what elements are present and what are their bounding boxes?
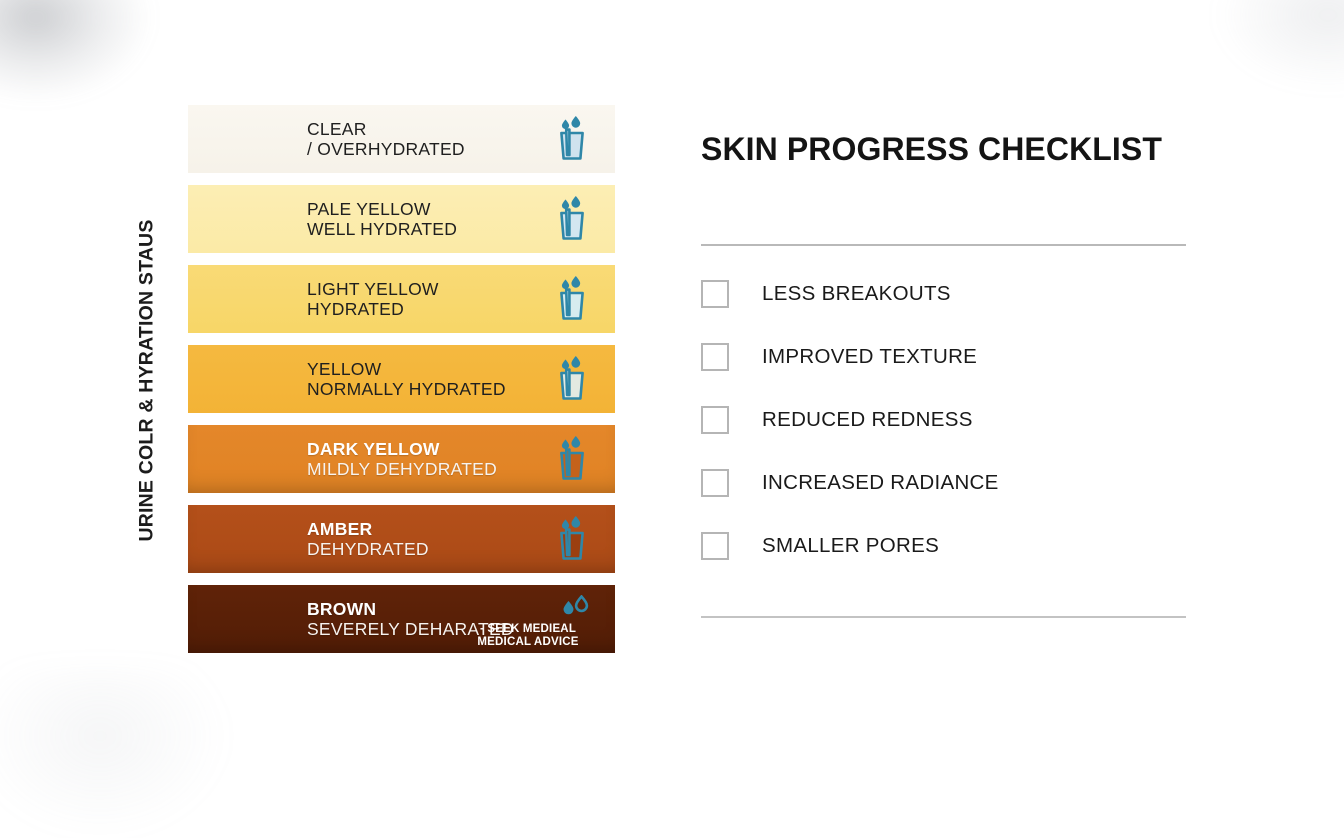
hydration-row-status: NORMALLY HYDRATED (307, 379, 605, 399)
hydration-row: PALE YELLOWWELL HYDRATED (188, 185, 615, 253)
hydration-row-texts: CLEAR/ OVERHYDRATED (307, 119, 605, 160)
checklist-divider-bottom (701, 616, 1186, 618)
hydration-row-color-name: AMBER (307, 519, 605, 539)
checklist-item-label: LESS BREAKOUTS (762, 282, 951, 306)
hydration-row-color-name: CLEAR (307, 119, 605, 139)
hydration-row: BROWNSEVERELY DEHARATED- SEEK MEDIEAL ME… (188, 585, 615, 653)
hydration-row-color-name: BROWN (307, 599, 605, 619)
hydration-row-texts: LIGHT YELLOWHYDRATED (307, 279, 605, 320)
skin-progress-checklist: SKIN PROGRESS CHECKLIST LESS BREAKOUTSIM… (660, 0, 1344, 768)
hydration-row: AMBERDEHYDRATED (188, 505, 615, 573)
checklist-item[interactable]: INCREASED RADIANCE (701, 467, 1221, 499)
hydration-row-status: HYDRATED (307, 299, 605, 319)
hydration-row-color-name: LIGHT YELLOW (307, 279, 605, 299)
checkbox-icon[interactable] (701, 280, 729, 308)
checklist-divider-top (701, 244, 1186, 246)
checkbox-icon[interactable] (701, 406, 729, 434)
checklist-item-label: IMPROVED TEXTURE (762, 345, 977, 369)
checklist-item-label: SMALLER PORES (762, 534, 939, 558)
checklist-item-label: REDUCED REDNESS (762, 408, 973, 432)
hydration-row-status: SEVERELY DEHARATED (307, 619, 605, 639)
checkbox-icon[interactable] (701, 343, 729, 371)
hydration-scale-rows: CLEAR/ OVERHYDRATEDPALE YELLOWWELL HYDRA… (188, 105, 615, 653)
hydration-row: LIGHT YELLOWHYDRATED (188, 265, 615, 333)
chart-axis-label: URINE COLR & HYRATION STAUS (127, 95, 167, 665)
checklist-title: SKIN PROGRESS CHECKLIST (701, 131, 1162, 168)
checklist-item[interactable]: SMALLER PORES (701, 530, 1221, 562)
hydration-row-status: DEHYDRATED (307, 539, 605, 559)
hydration-row-color-name: DARK YELLOW (307, 439, 605, 459)
hydration-row-status: / OVERHYDRATED (307, 139, 605, 159)
hydration-row-texts: PALE YELLOWWELL HYDRATED (307, 199, 605, 240)
hydration-row-status: MILDLY DEHYDRATED (307, 459, 605, 479)
hydration-row: CLEAR/ OVERHYDRATED (188, 105, 615, 173)
checkbox-icon[interactable] (701, 469, 729, 497)
hydration-row-texts: DARK YELLOWMILDLY DEHYDRATED (307, 439, 605, 480)
checklist-item-label: INCREASED RADIANCE (762, 471, 999, 495)
hydration-row-status: WELL HYDRATED (307, 219, 605, 239)
hydration-row-color-name: YELLOW (307, 359, 605, 379)
hydration-row: DARK YELLOWMILDLY DEHYDRATED (188, 425, 615, 493)
chart-axis-label-text: URINE COLR & HYRATION STAUS (136, 219, 159, 541)
urine-color-hydration-chart: URINE COLR & HYRATION STAUS CLEAR/ OVERH… (0, 0, 660, 768)
checklist-item[interactable]: REDUCED REDNESS (701, 404, 1221, 436)
hydration-row-color-name: PALE YELLOW (307, 199, 605, 219)
hydration-row-texts: BROWNSEVERELY DEHARATED (307, 599, 605, 640)
hydration-row-texts: AMBERDEHYDRATED (307, 519, 605, 560)
hydration-row: YELLOWNORMALLY HYDRATED (188, 345, 615, 413)
hydration-row-texts: YELLOWNORMALLY HYDRATED (307, 359, 605, 400)
checklist-item[interactable]: IMPROVED TEXTURE (701, 341, 1221, 373)
checkbox-icon[interactable] (701, 532, 729, 560)
checklist-item[interactable]: LESS BREAKOUTS (701, 278, 1221, 310)
checklist-item-list: LESS BREAKOUTSIMPROVED TEXTUREREDUCED RE… (701, 278, 1221, 562)
